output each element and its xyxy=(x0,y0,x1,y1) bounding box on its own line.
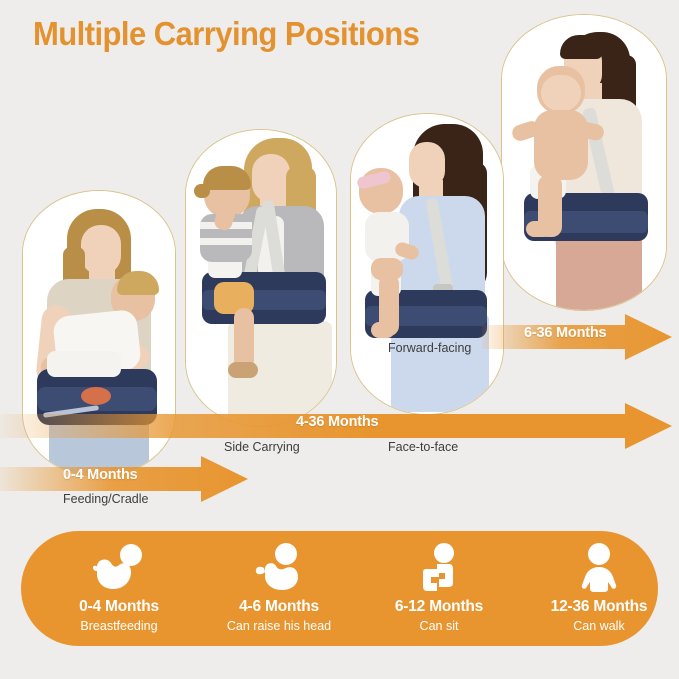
stage-item-raise-head: 4-6 Months Can raise his head xyxy=(189,531,369,646)
baby-raise-head-icon xyxy=(189,543,369,591)
stage-desc-raise-head: Can raise his head xyxy=(189,619,369,633)
arrow-6-36-months-label-forward-facing: Forward-facing xyxy=(388,341,471,355)
growth-stages-panel: 0-4 Months Breastfeeding 4-6 Months Can … xyxy=(21,531,658,646)
baby-breastfeeding-icon xyxy=(29,543,209,591)
stage-age-0-4: 0-4 Months xyxy=(29,598,209,616)
stage-age-6-12: 6-12 Months xyxy=(349,598,529,616)
arrow-0-4-months-age: 0-4 Months xyxy=(63,467,138,483)
photo-face-to-face xyxy=(350,113,504,415)
photo-face-to-face-image xyxy=(351,114,503,414)
arrow-6-36-months-age: 6-36 Months xyxy=(524,325,606,341)
stage-age-12-36: 12-36 Months xyxy=(509,598,679,616)
child-standing-icon xyxy=(509,543,679,591)
arrow-0-4-months-label-feeding-cradle: Feeding/Cradle xyxy=(63,492,148,506)
stage-age-4-6: 4-6 Months xyxy=(189,598,369,616)
arrow-4-36-months-age: 4-36 Months xyxy=(296,414,378,430)
stage-desc-breastfeeding: Breastfeeding xyxy=(29,619,209,633)
stage-item-can-walk: 12-36 Months Can walk xyxy=(509,531,679,646)
photo-forward-facing-image xyxy=(502,15,666,310)
stage-desc-can-walk: Can walk xyxy=(509,619,679,633)
baby-sitting-icon xyxy=(349,543,529,591)
stage-item-can-sit: 6-12 Months Can sit xyxy=(349,531,529,646)
stage-desc-can-sit: Can sit xyxy=(349,619,529,633)
photo-side-carrying-image xyxy=(186,130,336,426)
arrow-6-36-months: 6-36 Months xyxy=(482,314,672,360)
photo-forward-facing xyxy=(501,14,667,311)
arrow-4-36-months-label-face-to-face: Face-to-face xyxy=(388,440,458,454)
photo-side-carrying xyxy=(185,129,337,427)
stage-item-breastfeeding: 0-4 Months Breastfeeding xyxy=(29,531,209,646)
arrow-4-36-months: 4-36 Months xyxy=(0,403,672,449)
page-title: Multiple Carrying Positions xyxy=(33,15,419,53)
infographic-root: Multiple Carrying Positions xyxy=(0,0,679,679)
arrow-4-36-months-label-side-carrying: Side Carrying xyxy=(224,440,300,454)
